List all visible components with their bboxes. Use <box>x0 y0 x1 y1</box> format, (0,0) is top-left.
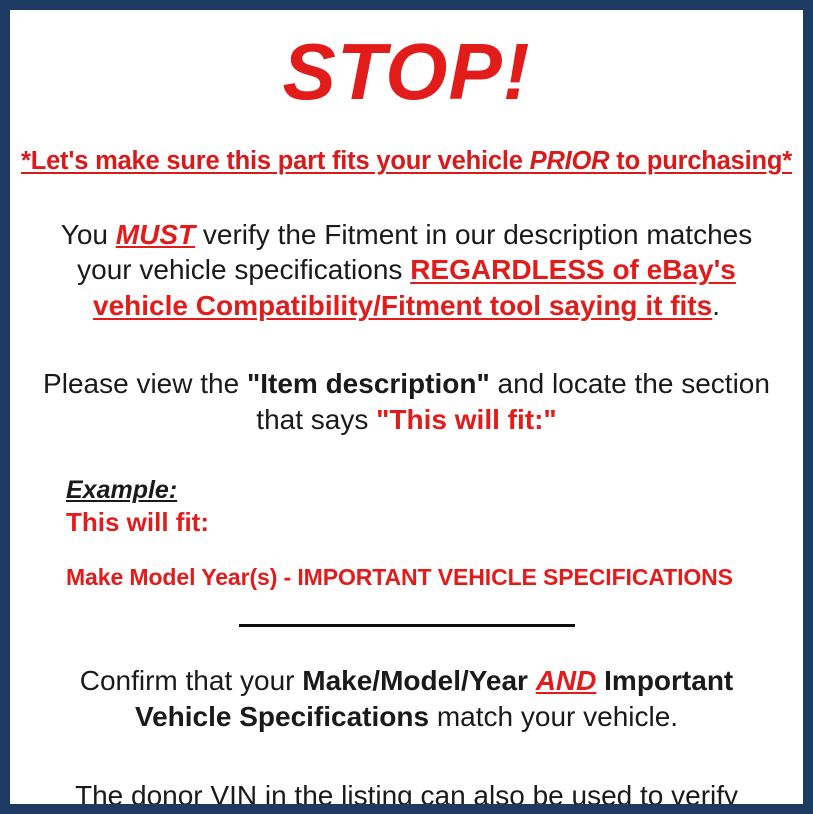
confirm-lead: Confirm that your <box>80 665 303 696</box>
banner-emphasis-prior: PRIOR <box>530 147 610 175</box>
fitment-notice-card: STOP! *Let's make sure this part fits yo… <box>0 0 813 814</box>
donor-vin-paragraph: The donor VIN in the listing can also be… <box>18 778 795 814</box>
divider-container <box>18 617 795 635</box>
banner-text-part1: *Let's make sure this part fits your veh… <box>21 147 530 175</box>
and-emphasis: AND <box>536 665 597 696</box>
example-fitment-line: Make Model Year(s) - IMPORTANT VEHICLE S… <box>66 564 795 590</box>
must-emphasis: MUST <box>116 219 195 250</box>
must-verify-paragraph: You MUST verify the Fitment in our descr… <box>18 217 795 324</box>
item-description-label: "Item description" <box>247 368 490 399</box>
fitment-banner-line: *Let's make sure this part fits your veh… <box>18 146 795 177</box>
example-label: Example: <box>66 476 177 505</box>
confirm-paragraph: Confirm that your Make/Model/Year AND Im… <box>18 663 795 735</box>
notice-content-area: STOP! *Let's make sure this part fits yo… <box>10 32 803 814</box>
example-block: Example: This will fit: Make Model Year(… <box>18 476 795 591</box>
confirm-tail: match your vehicle. <box>429 701 678 732</box>
item-description-paragraph: Please view the "Item description" and l… <box>18 366 795 438</box>
must-para-lead: You <box>61 219 116 250</box>
page-title: STOP! <box>18 32 795 112</box>
banner-text-part2: to purchasing* <box>609 147 792 175</box>
make-model-year-emphasis: Make/Model/Year <box>302 665 528 696</box>
example-this-will-fit-heading: This will fit: <box>66 508 795 538</box>
horizontal-rule <box>239 624 575 627</box>
must-para-tail: . <box>712 290 720 321</box>
this-will-fit-quote: "This will fit:" <box>376 404 557 435</box>
example-label-row: Example: <box>66 476 795 505</box>
item-desc-lead: Please view the <box>43 368 247 399</box>
